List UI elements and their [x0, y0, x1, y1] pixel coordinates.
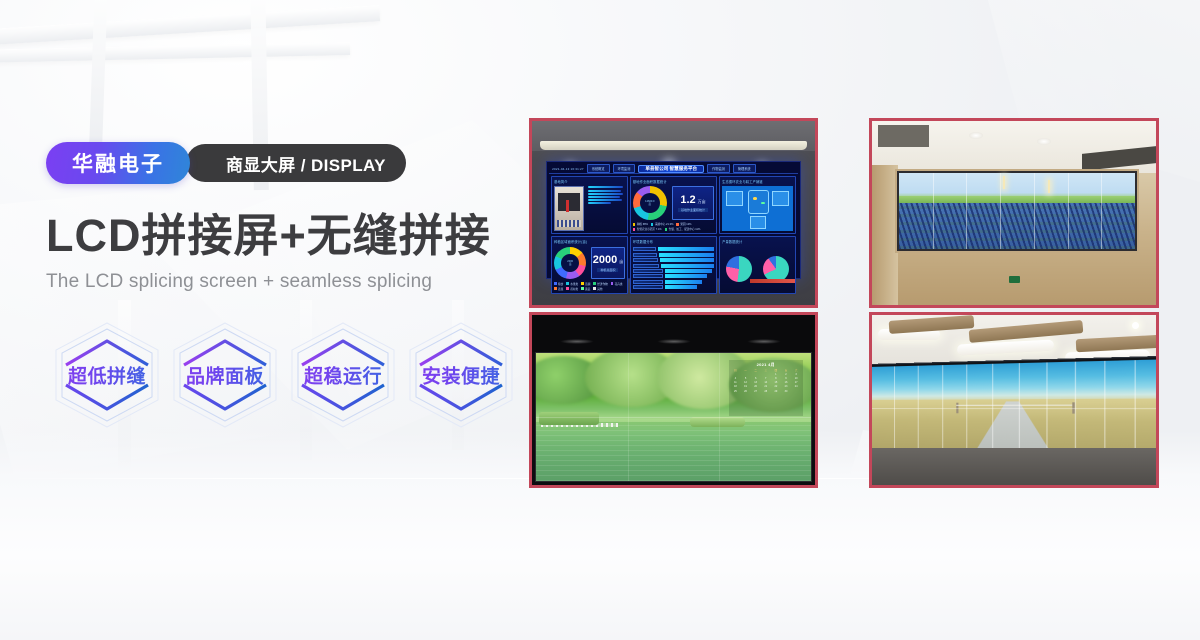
panel-title: 产量数据统计	[722, 239, 793, 244]
calendar-day: 18	[731, 385, 741, 389]
feature-item-3: 安装便捷	[402, 321, 520, 429]
kpi-value: 2000	[593, 255, 617, 266]
feature-label: 超低拼缝	[48, 361, 166, 388]
legend-label: 其他	[597, 287, 602, 291]
dashboard-panel-pies: 产量数据统计	[719, 236, 796, 293]
photo-gallery: 2021-04-13 16:31:27 系统概览 环境监测 单县智公司 智慧服务…	[529, 118, 1159, 488]
kpi-caption: 种植总面积	[597, 268, 618, 272]
legend-label: 花卉类	[615, 282, 623, 286]
feature-label: 安装便捷	[402, 361, 520, 388]
legend-label: 药材类	[570, 287, 578, 291]
feature-item-1: 品牌面板	[166, 321, 284, 429]
calendar-day: 16	[781, 381, 791, 385]
legend-label: 果园 12%	[680, 222, 691, 226]
calendar-day: 21	[761, 385, 771, 389]
legend-label: 苗圃	[585, 282, 590, 286]
feature-item-2: 超稳运行	[284, 321, 402, 429]
calendar-day: 6	[751, 377, 761, 381]
calendar-day: 23	[781, 385, 791, 389]
panel-title: 生态循环农业与精工产销链	[722, 179, 793, 184]
calendar-day: 5	[741, 377, 751, 381]
calendar-day: 20	[751, 385, 761, 389]
calendar-day: 13	[751, 381, 761, 385]
calendar-day: 24	[791, 385, 801, 389]
calendar-day: 14	[761, 381, 771, 385]
feature-item-0: 超低拼缝	[48, 321, 166, 429]
dashboard-panel-intro: 基地简介	[551, 176, 628, 234]
photo-pond-video-wall[interactable]: 2021 4月 日 一 二 三 四 五 六	[529, 312, 818, 488]
page-title: LCD拼接屏+无缝拼接	[46, 212, 516, 261]
calendar-day: 11	[731, 381, 741, 385]
badge-row: 商显大屏 / DISPLAY 华融电子	[46, 142, 516, 184]
calendar-day: 27	[751, 390, 761, 394]
calendar-overlay: 2021 4月 日 一 二 三 四 五 六	[729, 360, 803, 416]
calendar-day: 25	[731, 390, 741, 394]
dashboard-timestamp: 2021-04-13 16:31:27	[552, 167, 584, 171]
calendar-day: 28	[761, 390, 771, 394]
dashboard-header: 2021-04-13 16:31:27 系统概览 环境监测 单县智公司 智慧服务…	[549, 164, 798, 174]
legend-label: 经济作物	[597, 282, 607, 286]
panel-title: 基地作业面积数据统计	[633, 179, 714, 184]
dashboard-screen: 2021-04-13 16:31:27 系统概览 环境监测 单县智公司 智慧服务…	[546, 161, 801, 279]
calendar-day: 19	[741, 385, 751, 389]
dashboard-nav-item[interactable]: 系统概览	[587, 164, 610, 173]
dashboard-panel-area: 基地作业面积数据统计 12600.0亩	[630, 176, 717, 234]
feature-label: 品牌面板	[166, 361, 284, 388]
calendar-day: 26	[741, 390, 751, 394]
dashboard-panel-flow: 生态循环农业与精工产销链	[719, 176, 796, 234]
kpi-caption: 基地作业面积统计	[678, 208, 708, 212]
calendar-day: 10	[791, 377, 801, 381]
calendar-title: 2021 4月	[731, 362, 801, 368]
dashboard-nav-item[interactable]: 环境监测	[613, 164, 636, 173]
feature-label: 超稳运行	[284, 361, 402, 388]
calendar-day: 22	[771, 385, 781, 389]
calendar-day: 29	[771, 390, 781, 394]
legend-label: 水果类	[570, 282, 578, 286]
feature-list: 超低拼缝 品牌面板 超稳运行	[48, 321, 516, 429]
calendar-day	[761, 373, 771, 377]
legend-label: 蔬菜	[558, 287, 563, 291]
calendar-day: 9	[781, 377, 791, 381]
photo-wide-wall-solar[interactable]: 会议室木饰面墙 1×N 超宽拼接屏 · 光伏电站航拍画面	[869, 118, 1159, 308]
kpi-unit: 亩	[619, 259, 623, 265]
dashboard-title: 单县智公司 智慧服务平台	[638, 165, 704, 173]
page-subtitle: The LCD splicing screen + seamless splic…	[46, 271, 516, 293]
dashboard-panel-bars: 环境数据分布	[630, 236, 717, 293]
category-badge: 商显大屏 / DISPLAY	[186, 144, 406, 182]
calendar-day: 1	[771, 373, 781, 377]
calendar-day	[731, 373, 741, 377]
brand-badge: 华融电子	[46, 142, 190, 184]
calendar-day: 7	[761, 377, 771, 381]
legend-label: 采摘中心 21.3%	[655, 222, 673, 226]
calendar-day: 12	[741, 381, 751, 385]
bar-chart	[633, 246, 714, 290]
photo-beach-boardwalk-wall[interactable]: 大厅超长拼接墙 · 海滨栈道画面	[869, 312, 1159, 488]
legend-label: 仓储、加工、配送中心 11%	[669, 227, 701, 231]
calendar-day: 30	[781, 390, 791, 394]
calendar-day: 2	[781, 373, 791, 377]
panel-title: 环境数据分布	[633, 239, 714, 244]
calendar-day: 15	[771, 381, 781, 385]
dashboard-nav-item[interactable]: 管理系统	[733, 164, 756, 173]
photo-control-room-dashboard[interactable]: 2021-04-13 16:31:27 系统概览 环境监测 单县智公司 智慧服务…	[529, 118, 818, 308]
kpi-unit: 万亩	[698, 199, 706, 205]
calendar-day: 17	[791, 381, 801, 385]
calendar-day	[751, 373, 761, 377]
panel-title: 种植区域面积统计(亩)	[554, 239, 625, 244]
calendar-day: 4	[731, 377, 741, 381]
dashboard-nav-item[interactable]: 作物监测	[707, 164, 730, 173]
legend-label: 种植 68%	[637, 222, 648, 226]
calendar-day	[741, 373, 751, 377]
calendar-day: 3	[791, 373, 801, 377]
kpi-value: 1.2	[680, 195, 695, 206]
calendar-day: 8	[771, 377, 781, 381]
legend-label: 粮食	[558, 282, 563, 286]
legend-label: 智慧农业示范区 7.1%	[637, 227, 662, 231]
banner-stage: 商显大屏 / DISPLAY 华融电子 LCD拼接屏+无缝拼接 The LCD …	[0, 0, 1200, 640]
calendar-days: 1 2 3 4 5 6 7 8 9 10 11	[731, 373, 801, 394]
panel-title: 基地简介	[554, 179, 625, 184]
dashboard-panel-planting: 种植区域面积统计(亩) 2000亩	[551, 236, 628, 293]
banner-text-column: 商显大屏 / DISPLAY 华融电子 LCD拼接屏+无缝拼接 The LCD …	[46, 142, 516, 429]
legend-label: 菌菇	[585, 287, 590, 291]
